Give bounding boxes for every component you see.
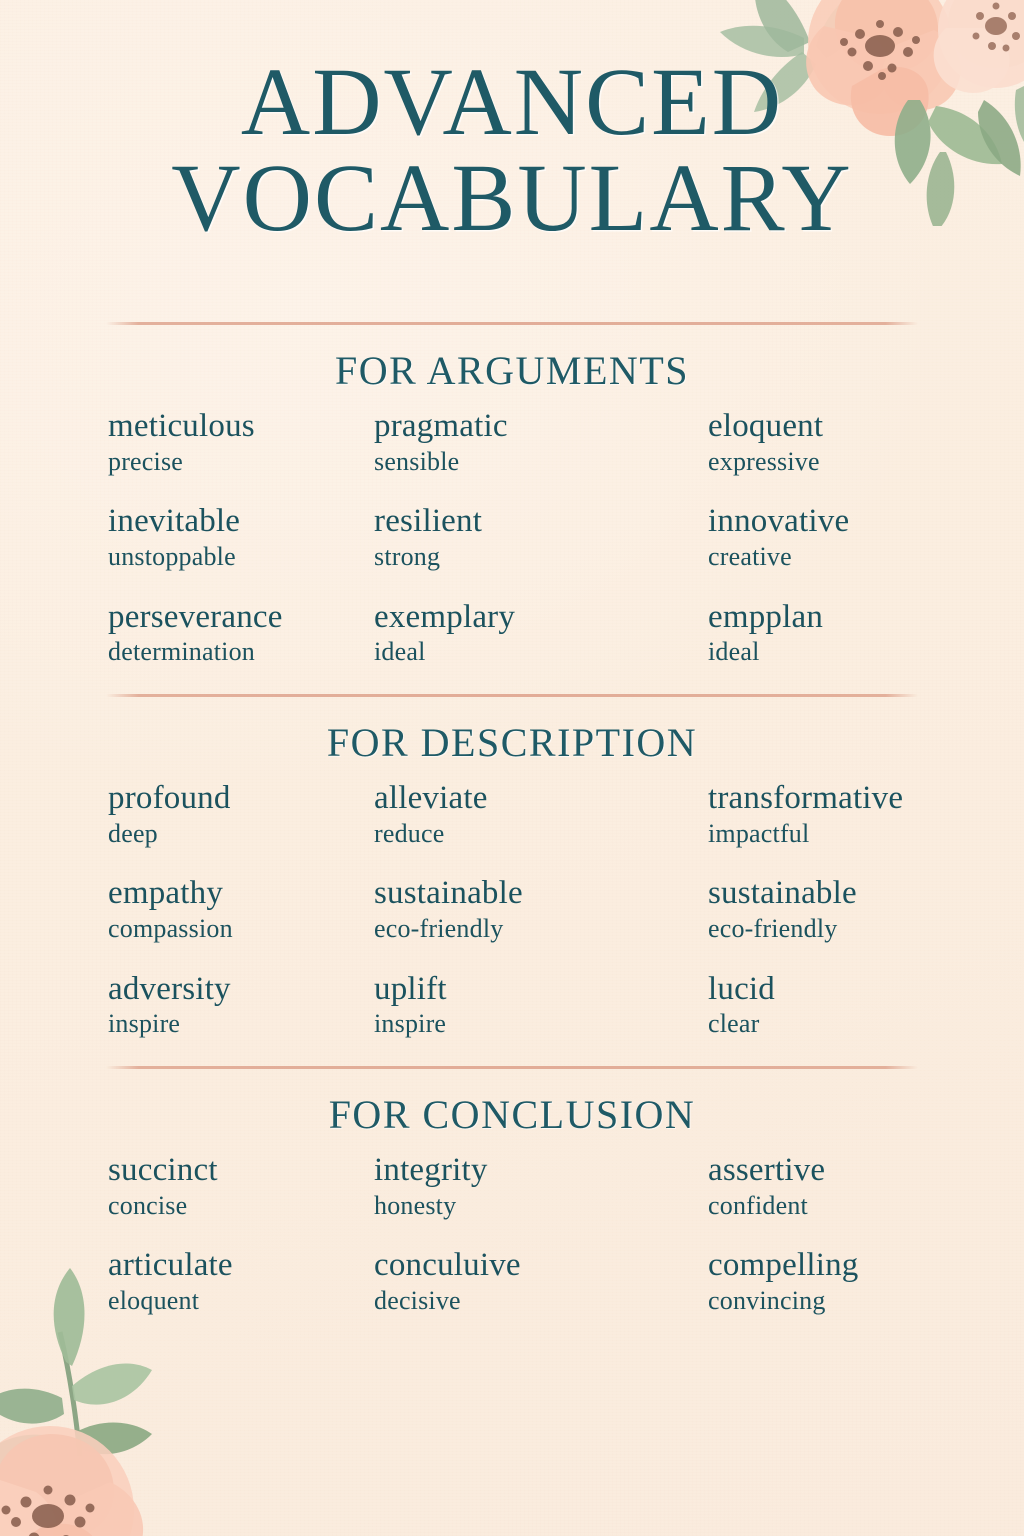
vocabulary-entry: sustainableeco-friendly (374, 875, 708, 958)
vocabulary-word: inevitable (108, 503, 374, 541)
vocabulary-synonym: determination (108, 636, 374, 668)
vocabulary-entry: meticulousprecise (108, 408, 374, 491)
flower-bottom-icon (0, 1426, 143, 1536)
title-line-vocabulary: VOCABULARY (0, 154, 1024, 242)
vocabulary-word: empplan (708, 599, 1020, 637)
vocabulary-synonym: inspire (108, 1008, 374, 1040)
vocabulary-synonym: unstoppable (108, 541, 374, 573)
vocabulary-word: sustainable (374, 875, 708, 913)
vocabulary-word: assertive (708, 1152, 1020, 1190)
vocabulary-synonym: concise (108, 1190, 374, 1222)
vocabulary-entry: assertiveconfident (708, 1152, 1020, 1235)
vocabulary-entry: integrityhonesty (374, 1152, 708, 1235)
vocabulary-synonym: inspire (374, 1008, 708, 1040)
section-for-arguments: FOR ARGUMENTSmeticulousprecisepragmatics… (0, 322, 1024, 694)
title-line-advanced: ADVANCED (0, 58, 1024, 146)
vocabulary-word: exemplary (374, 599, 708, 637)
vocabulary-entry: compellingconvincing (708, 1247, 1020, 1330)
flower-small-stamen-icon (973, 3, 1021, 52)
word-grid: profounddeepalleviatereducetransformativ… (0, 780, 1024, 1066)
vocabulary-entry: sustainableeco-friendly (708, 875, 1020, 958)
word-grid: succinctconciseintegrityhonestyassertive… (0, 1152, 1024, 1343)
vocabulary-entry: adversityinspire (108, 971, 374, 1054)
flower-bottom-stamen-icon (2, 1486, 95, 1536)
vocabulary-word: adversity (108, 971, 374, 1009)
vocabulary-synonym: eco-friendly (708, 913, 1020, 945)
vocabulary-word: perseverance (108, 599, 374, 637)
vocabulary-word: innovative (708, 503, 1020, 541)
vocabulary-entry: articulateeloquent (108, 1247, 374, 1330)
poster-title: ADVANCED VOCABULARY (0, 58, 1024, 243)
section-divider (106, 322, 918, 325)
vocabulary-entry: conculuivedecisive (374, 1247, 708, 1330)
vocabulary-synonym: deep (108, 818, 374, 850)
section-for-description: FOR DESCRIPTIONprofounddeepalleviateredu… (0, 694, 1024, 1066)
sections-container: FOR ARGUMENTSmeticulousprecisepragmatics… (0, 322, 1024, 1343)
vocabulary-synonym: expressive (708, 446, 1020, 478)
vocabulary-synonym: convincing (708, 1285, 1020, 1317)
vocabulary-entry: lucidclear (708, 971, 1020, 1054)
vocabulary-entry: resilientstrong (374, 503, 708, 586)
vocabulary-word: eloquent (708, 408, 1020, 446)
vocabulary-entry: alleviatereduce (374, 780, 708, 863)
vocabulary-word: succinct (108, 1152, 374, 1190)
vocabulary-entry: succinctconcise (108, 1152, 374, 1235)
vocabulary-synonym: clear (708, 1008, 1020, 1040)
section-divider (106, 1066, 918, 1069)
word-grid: meticulousprecisepragmaticsensibleeloque… (0, 408, 1024, 694)
vocabulary-poster: ADVANCED VOCABULARY FOR ARGUMENTSmeticul… (0, 0, 1024, 1536)
vocabulary-synonym: eco-friendly (374, 913, 708, 945)
vocabulary-entry: empathycompassion (108, 875, 374, 958)
vocabulary-synonym: creative (708, 541, 1020, 573)
vocabulary-word: lucid (708, 971, 1020, 1009)
vocabulary-entry: eloquentexpressive (708, 408, 1020, 491)
vocabulary-word: meticulous (108, 408, 374, 446)
vocabulary-synonym: confident (708, 1190, 1020, 1222)
section-heading: FOR CONCLUSION (0, 1091, 1024, 1138)
vocabulary-word: compelling (708, 1247, 1020, 1285)
vocabulary-synonym: impactful (708, 818, 1020, 850)
section-divider (106, 694, 918, 697)
vocabulary-word: integrity (374, 1152, 708, 1190)
vocabulary-entry: perseverancedetermination (108, 599, 374, 682)
vocabulary-synonym: precise (108, 446, 374, 478)
vocabulary-synonym: strong (374, 541, 708, 573)
section-heading: FOR DESCRIPTION (0, 719, 1024, 766)
section-for-conclusion: FOR CONCLUSIONsuccinctconciseintegrityho… (0, 1066, 1024, 1343)
vocabulary-synonym: reduce (374, 818, 708, 850)
vocabulary-word: transformative (708, 780, 1020, 818)
vocabulary-word: alleviate (374, 780, 708, 818)
vocabulary-synonym: ideal (708, 636, 1020, 668)
vocabulary-synonym: decisive (374, 1285, 708, 1317)
section-heading: FOR ARGUMENTS (0, 347, 1024, 394)
vocabulary-entry: transformativeimpactful (708, 780, 1020, 863)
vocabulary-entry: empplanideal (708, 599, 1020, 682)
vocabulary-entry: inevitableunstoppable (108, 503, 374, 586)
vocabulary-synonym: sensible (374, 446, 708, 478)
vocabulary-word: resilient (374, 503, 708, 541)
vocabulary-entry: pragmaticsensible (374, 408, 708, 491)
vocabulary-synonym: eloquent (108, 1285, 374, 1317)
vocabulary-word: articulate (108, 1247, 374, 1285)
vocabulary-synonym: ideal (374, 636, 708, 668)
vocabulary-entry: profounddeep (108, 780, 374, 863)
vocabulary-word: uplift (374, 971, 708, 1009)
vocabulary-word: empathy (108, 875, 374, 913)
vocabulary-synonym: honesty (374, 1190, 708, 1222)
vocabulary-entry: upliftinspire (374, 971, 708, 1054)
vocabulary-word: sustainable (708, 875, 1020, 913)
vocabulary-synonym: compassion (108, 913, 374, 945)
vocabulary-word: pragmatic (374, 408, 708, 446)
vocabulary-word: profound (108, 780, 374, 818)
vocabulary-entry: innovativecreative (708, 503, 1020, 586)
vocabulary-entry: exemplaryideal (374, 599, 708, 682)
vocabulary-word: conculuive (374, 1247, 708, 1285)
